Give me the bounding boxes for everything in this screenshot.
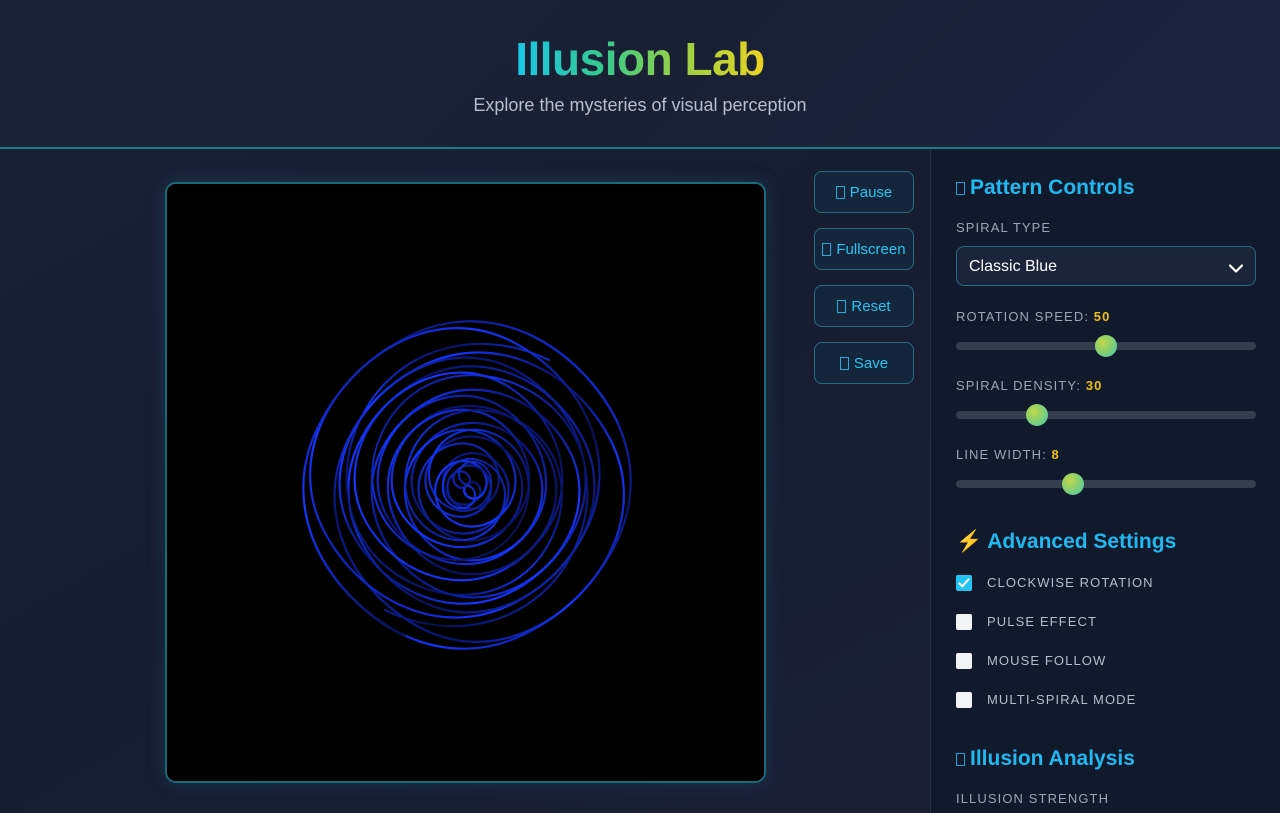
illusion-analysis-heading-label: Illusion Analysis <box>970 747 1135 770</box>
fullscreen-button[interactable]: Fullscreen <box>814 228 914 270</box>
missing-glyph-icon <box>956 182 965 195</box>
pulse-effect-checkbox[interactable] <box>956 614 972 630</box>
checkbox-row-pulse-effect[interactable]: PULSE EFFECT <box>956 612 1255 632</box>
advanced-settings-heading-label: Advanced Settings <box>987 530 1176 553</box>
line-width-slider[interactable] <box>956 473 1256 495</box>
spiral-illusion-canvas[interactable] <box>165 182 766 783</box>
pattern-controls-heading: Pattern Controls <box>956 175 1255 201</box>
rotation-speed-value: 50 <box>1094 309 1111 324</box>
save-button[interactable]: Save <box>814 342 914 384</box>
reset-icon <box>837 300 846 313</box>
multi-spiral-mode-label: MULTI-SPIRAL MODE <box>987 691 1136 709</box>
multi-spiral-mode-checkbox[interactable] <box>956 692 972 708</box>
spiral-density-value: 30 <box>1086 378 1103 393</box>
spiral-density-track <box>956 411 1256 419</box>
line-width-value: 8 <box>1052 447 1060 462</box>
spiral-graphic <box>167 184 764 781</box>
illusion-strength-label: ILLUSION STRENGTH <box>956 790 1255 808</box>
pulse-effect-label: PULSE EFFECT <box>987 613 1097 631</box>
line-width-track <box>956 480 1256 488</box>
main-area: Pause Fullscreen Reset Save Pattern Cont… <box>0 149 1280 813</box>
pause-button-label: Pause <box>850 184 893 201</box>
mouse-follow-checkbox[interactable] <box>956 653 972 669</box>
illusion-analysis-heading: Illusion Analysis <box>956 746 1255 772</box>
pause-icon <box>836 186 845 199</box>
line-width-label: LINE WIDTH: 8 <box>956 446 1255 464</box>
spiral-density-thumb[interactable] <box>1026 404 1048 426</box>
line-width-thumb[interactable] <box>1062 473 1084 495</box>
rotation-speed-label-text: ROTATION SPEED: <box>956 309 1089 324</box>
advanced-settings-heading: ⚡ Advanced Settings <box>956 529 1255 555</box>
app-header: Illusion Lab Explore the mysteries of vi… <box>0 0 1280 149</box>
spiral-density-slider[interactable] <box>956 404 1256 426</box>
spiral-density-label-text: SPIRAL DENSITY: <box>956 378 1081 393</box>
lightning-bolt-icon: ⚡ <box>956 530 982 553</box>
rotation-speed-thumb[interactable] <box>1095 335 1117 357</box>
clockwise-rotation-checkbox[interactable] <box>956 575 972 591</box>
mouse-follow-label: MOUSE FOLLOW <box>987 652 1106 670</box>
stage-area: Pause Fullscreen Reset Save <box>0 149 930 813</box>
reset-button-label: Reset <box>851 298 890 315</box>
spiral-type-select[interactable]: Classic Blue <box>956 246 1256 286</box>
fullscreen-icon <box>822 243 831 256</box>
spiral-type-label: SPIRAL TYPE <box>956 219 1255 237</box>
clockwise-rotation-label: CLOCKWISE ROTATION <box>987 574 1154 592</box>
pattern-controls-heading-label: Pattern Controls <box>970 176 1135 199</box>
spiral-density-label: SPIRAL DENSITY: 30 <box>956 377 1255 395</box>
line-width-label-text: LINE WIDTH: <box>956 447 1047 462</box>
fullscreen-button-label: Fullscreen <box>836 241 905 258</box>
control-panel: Pattern Controls SPIRAL TYPE Classic Blu… <box>930 149 1280 813</box>
pause-button[interactable]: Pause <box>814 171 914 213</box>
checkbox-row-clockwise-rotation[interactable]: CLOCKWISE ROTATION <box>956 573 1255 593</box>
spiral-type-select-wrap: Classic Blue <box>956 246 1256 286</box>
save-icon <box>840 357 849 370</box>
page-title: Illusion Lab <box>515 31 765 87</box>
checkbox-row-multi-spiral-mode[interactable]: MULTI-SPIRAL MODE <box>956 690 1255 710</box>
checkbox-row-mouse-follow[interactable]: MOUSE FOLLOW <box>956 651 1255 671</box>
save-button-label: Save <box>854 355 888 372</box>
missing-glyph-icon <box>956 753 965 766</box>
reset-button[interactable]: Reset <box>814 285 914 327</box>
rotation-speed-slider[interactable] <box>956 335 1256 357</box>
rotation-speed-label: ROTATION SPEED: 50 <box>956 308 1255 326</box>
page-subtitle: Explore the mysteries of visual percepti… <box>473 93 806 117</box>
action-buttons-group: Pause Fullscreen Reset Save <box>814 171 914 384</box>
